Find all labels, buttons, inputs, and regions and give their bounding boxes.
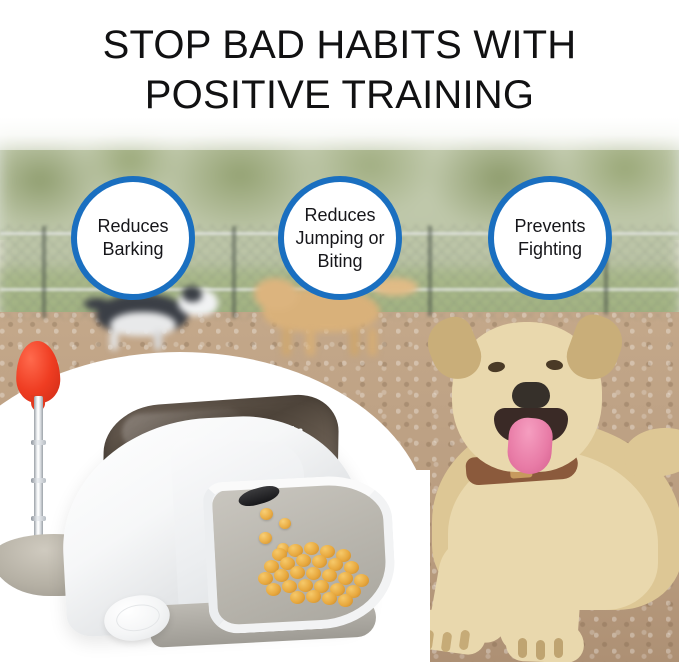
target-stick-joint	[31, 516, 46, 521]
product-marketing-image: STOP BAD HABITS WITH POSITIVE TRAINING R…	[0, 0, 679, 662]
fence-post	[42, 226, 46, 318]
benefit-circle-prevents-fighting: Prevents Fighting	[488, 176, 612, 300]
benefit-circle-label: Reduces Jumping or Biting	[295, 204, 384, 273]
dog-nose	[512, 382, 550, 408]
target-stick-pole	[34, 396, 43, 548]
target-stick-joint	[31, 478, 46, 483]
foreground-dog-yellow-labrador	[402, 300, 679, 662]
headline-line-2: POSITIVE TRAINING	[0, 70, 679, 120]
headline-line-1: STOP BAD HABITS WITH	[0, 20, 679, 70]
benefit-circle-reduces-jumping-or-biting: Reduces Jumping or Biting	[278, 176, 402, 300]
falling-kibble	[260, 508, 273, 520]
page-headline: STOP BAD HABITS WITH POSITIVE TRAINING	[0, 20, 679, 120]
falling-kibble	[259, 532, 272, 544]
benefit-circle-reduces-barking: Reduces Barking	[71, 176, 195, 300]
target-stick-joint	[31, 440, 46, 445]
benefit-circle-label: Reduces Barking	[97, 215, 168, 261]
fence-post	[232, 226, 236, 318]
benefit-circle-label: Prevents Fighting	[514, 215, 585, 261]
falling-kibble	[279, 518, 291, 529]
